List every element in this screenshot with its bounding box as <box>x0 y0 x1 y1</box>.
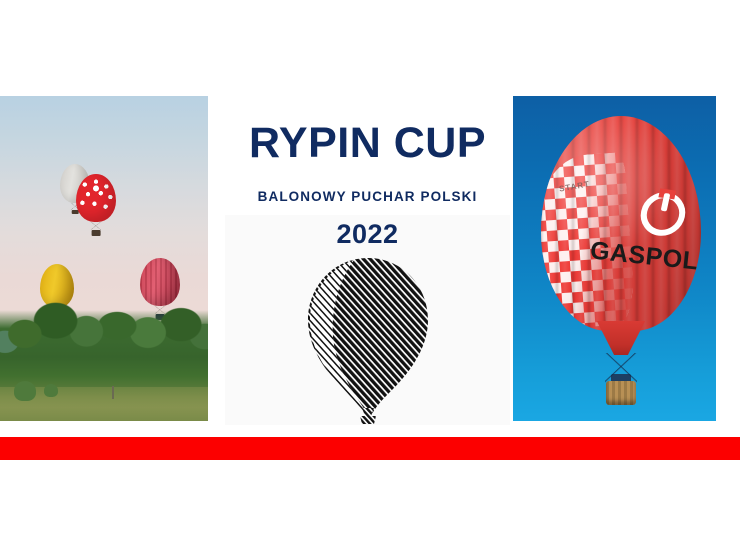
gaspol-rigging-cables <box>605 353 637 383</box>
left-balloon-red-polkadot <box>76 174 116 236</box>
poster-year: 2022 <box>225 219 510 250</box>
gaspol-basket <box>606 381 636 405</box>
red-accent-bar <box>0 437 740 460</box>
page-title: RYPIN CUP <box>225 122 510 165</box>
right-photo: START GASPOL <box>513 96 716 421</box>
gaspol-balloon-envelope: START GASPOL <box>541 116 701 331</box>
left-photo-shrub <box>14 381 36 401</box>
hatched-hot-air-balloon-icon <box>298 256 438 424</box>
poster-canvas: RYPIN CUP BALONOWY PUCHAR POLSKI 2022 <box>0 0 740 555</box>
gaspol-balloon: START GASPOL <box>541 116 701 331</box>
logo-balloon-neck <box>362 408 374 416</box>
left-photo-shrub <box>44 384 58 397</box>
logo-balloon-basket <box>360 416 376 424</box>
left-photo-fencepost <box>112 386 114 399</box>
center-title-panel: RYPIN CUP BALONOWY PUCHAR POLSKI 2022 <box>225 96 510 425</box>
left-photo <box>0 96 208 421</box>
poster-subtitle: BALONOWY PUCHAR POLSKI <box>225 189 510 204</box>
